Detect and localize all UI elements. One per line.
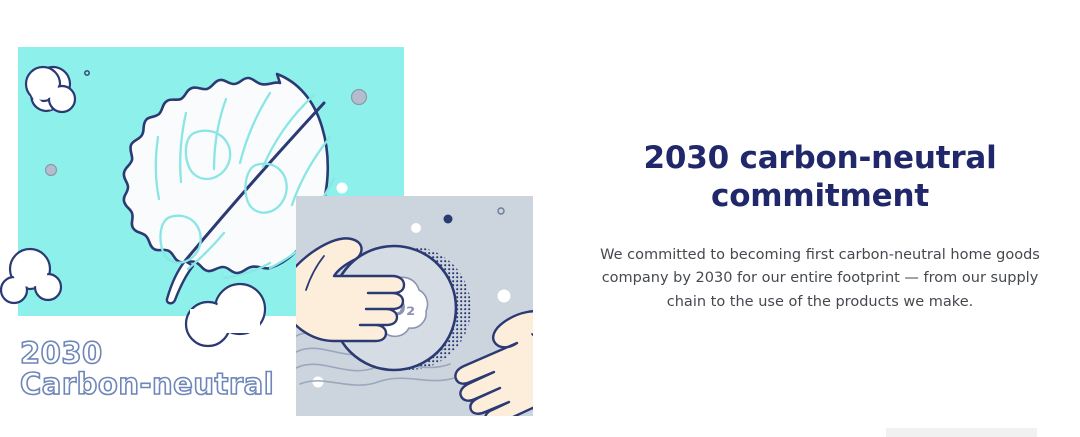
bottom-placeholder-strip [886,428,1037,437]
cloud-bottom-center-icon [186,284,265,346]
carbon-neutral-badge: 2030 Carbon-neutral [20,338,320,401]
body-paragraph: We committed to becoming first carbon-ne… [600,244,1040,314]
page-title: 2030 carbon-neutral commitment [600,140,1040,216]
dot-navy-outline-icon [498,208,504,214]
commitment-copy-block: 2030 carbon-neutral commitment We commit… [600,140,1040,314]
dot-gray-right-icon [352,90,367,105]
dot-gray-left-icon [46,165,57,176]
co2-card: CO₂ [296,196,533,416]
dot-white-1-icon [411,223,421,233]
cloud-bottom-left-icon [1,249,61,303]
dot-tiny-navy-icon [85,71,89,75]
carbon-neutral-section: CO₂ 2030 Carbon-neutral 2030 carbon-n [0,0,1080,437]
dot-white-icon [337,183,348,194]
badge-line-2: Carbon-neutral [20,369,320,400]
dot-white-2-icon [498,290,511,303]
carbon-neutral-illustration: CO₂ 2030 Carbon-neutral [0,0,560,437]
co2-card-svg: CO₂ [296,196,533,416]
cloud-top-left-icon [26,67,75,112]
badge-line-1: 2030 [20,338,320,369]
dot-navy-small-icon [444,215,453,224]
